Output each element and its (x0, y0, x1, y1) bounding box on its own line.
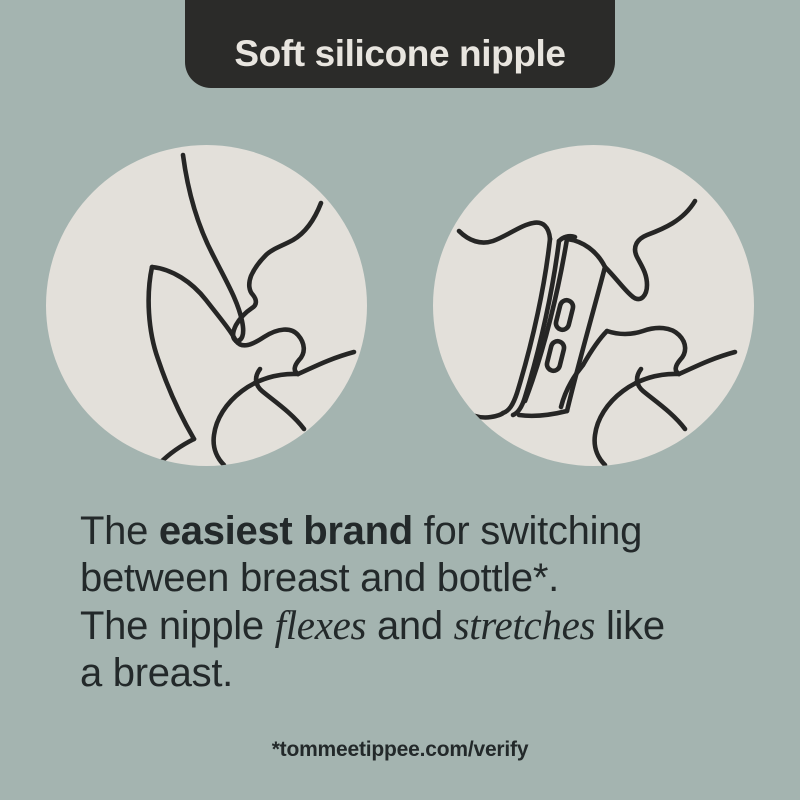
copy-line-3-part-3: like (595, 604, 665, 648)
copy-line-3-italic-flexes: flexes (275, 602, 367, 648)
copy-line-3-italic-stretches: stretches (454, 602, 596, 648)
bottle-nipple-illustration (433, 145, 754, 466)
copy-line-4: a breast. (80, 650, 730, 697)
illustration-row (0, 145, 800, 467)
bottle-nipple-line-art (433, 145, 754, 466)
circle-background-left (46, 145, 367, 466)
body-copy: The easiest brand for switching between … (80, 508, 730, 697)
header-pill: Soft silicone nipple (185, 0, 615, 88)
copy-line-1-part-1: The (80, 509, 159, 553)
copy-line-1: The easiest brand for switching (80, 508, 730, 555)
copy-line-1-part-2: for switching (413, 509, 642, 553)
copy-line-3-part-2: and (366, 604, 453, 648)
copy-line-3-part-1: The nipple (80, 604, 275, 648)
page-title: Soft silicone nipple (234, 35, 565, 72)
breastfeeding-illustration (46, 145, 367, 466)
copy-line-2: between breast and bottle*. (80, 555, 730, 602)
footnote-verify-url: *tommeetippee.com/verify (0, 738, 800, 762)
breastfeeding-line-art (46, 145, 367, 466)
copy-line-1-bold: easiest brand (159, 509, 413, 553)
advertisement-canvas: Soft silicone nipple (0, 0, 800, 800)
copy-line-3: The nipple flexes and stretches like (80, 602, 730, 650)
